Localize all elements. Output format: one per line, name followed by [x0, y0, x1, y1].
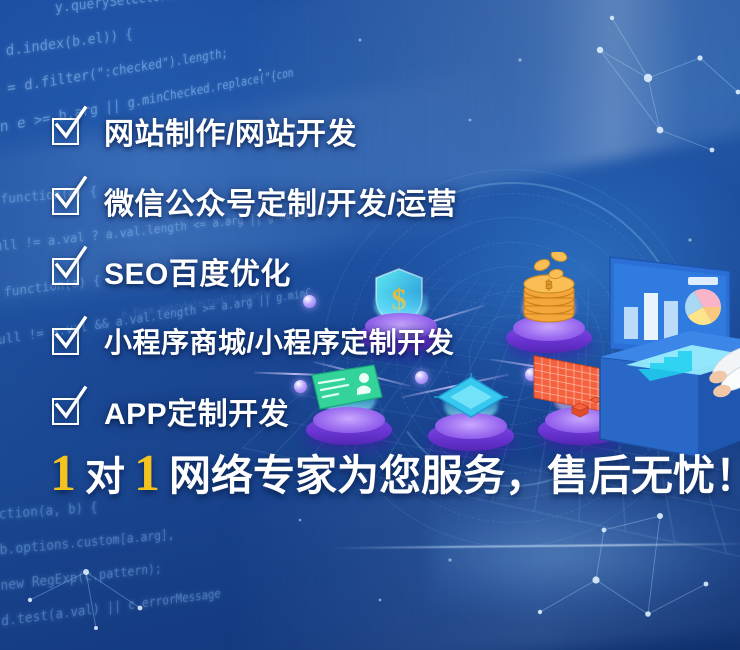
headline-rest: 网络专家为您服务，售后无忧！	[169, 455, 740, 497]
service-item-3[interactable]: 小程序商城/小程序定制开发	[52, 306, 692, 376]
service-label: SEO百度优化	[104, 249, 291, 293]
checkbox-checked-icon[interactable]	[52, 396, 82, 426]
horizon-line-decoration	[330, 543, 740, 549]
service-item-1[interactable]: 微信公众号定制/开发/运营	[52, 166, 692, 236]
service-item-2[interactable]: SEO百度优化	[52, 236, 692, 306]
services-checklist: 网站制作/网站开发 微信公众号定制/开发/运营 SEO百度优化 小程序商城/小程…	[52, 96, 692, 446]
glow-blob-bottom-right	[430, 500, 740, 620]
headline-number-first: 1	[50, 448, 76, 500]
service-label: 小程序商城/小程序定制开发	[104, 321, 454, 361]
service-label: 网站制作/网站开发	[104, 109, 357, 153]
headline: 1 对 1 网络专家为您服务，售后无忧！	[50, 448, 740, 500]
service-item-0[interactable]: 网站制作/网站开发	[52, 96, 692, 166]
checkbox-checked-icon[interactable]	[52, 186, 82, 216]
checkbox-checked-icon[interactable]	[52, 116, 82, 146]
service-label: APP定制开发	[104, 389, 289, 433]
service-item-4[interactable]: APP定制开发	[52, 376, 692, 446]
headline-number-second: 1	[134, 448, 160, 500]
checkbox-checked-icon[interactable]	[52, 326, 82, 356]
checkbox-checked-icon[interactable]	[52, 256, 82, 286]
code-block-bottom: unction(a, b) { = b.options.custom[a.arg…	[0, 484, 221, 642]
promo-banner: y.querySelectorAll("input[type=checkbox]…	[0, 0, 740, 650]
headline-middle-word: 对	[85, 457, 125, 497]
service-label: 微信公众号定制/开发/运营	[104, 179, 457, 223]
